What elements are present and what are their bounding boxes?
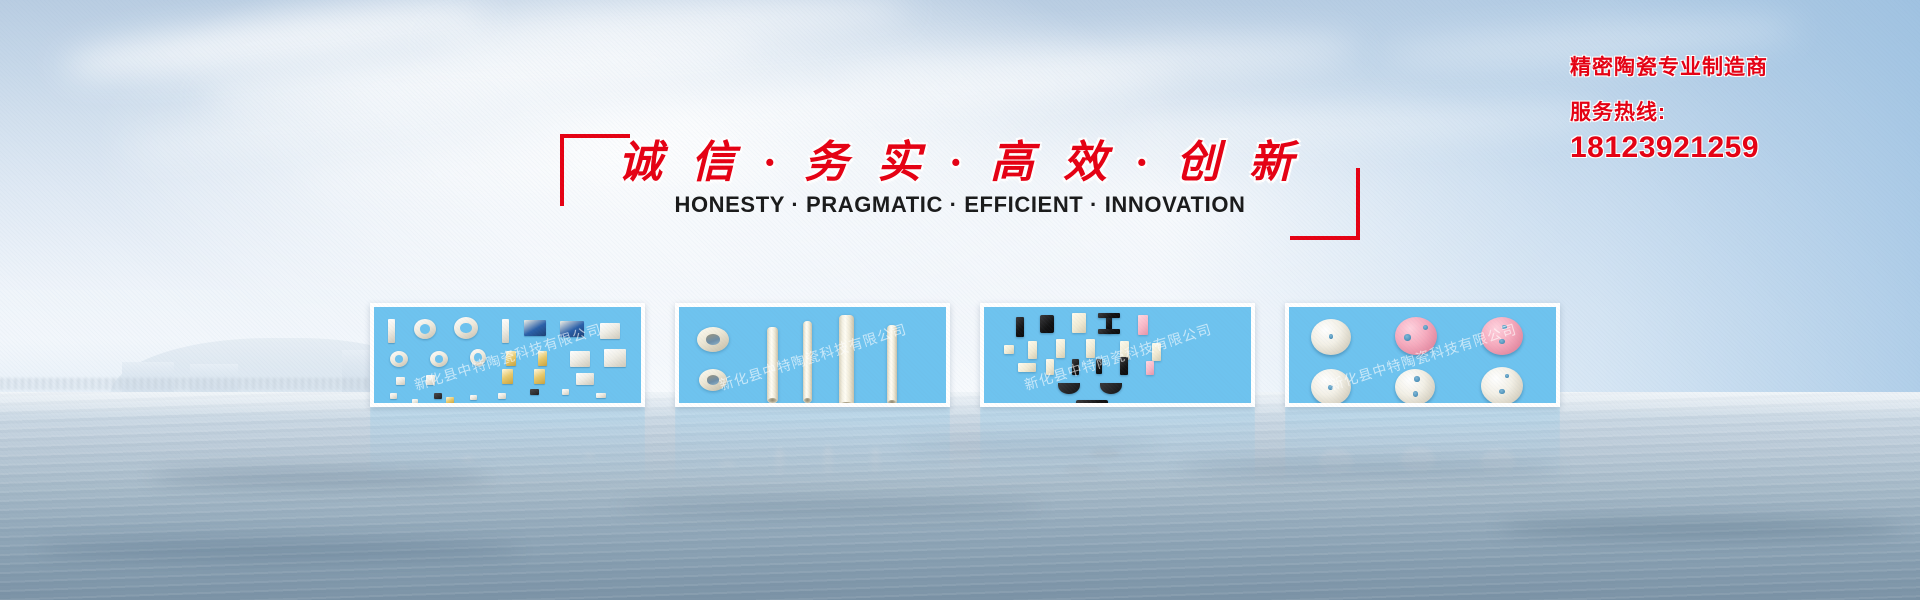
wet-smudge [40, 540, 520, 560]
ceramic-disc [1481, 317, 1523, 355]
ceramic-part [1056, 339, 1065, 358]
ceramic-part [1096, 359, 1102, 374]
ceramic-part [534, 369, 545, 384]
panel-image: 新化县中特陶瓷科技有限公司 [984, 307, 1251, 403]
ceramic-tube [803, 321, 812, 403]
panel-image: 新化县中特陶瓷科技有限公司 [374, 307, 641, 403]
ceramic-part [412, 399, 418, 403]
ceramic-part [1086, 339, 1095, 358]
ceramic-part [446, 397, 454, 403]
ceramic-part [576, 373, 594, 385]
ceramic-part [570, 351, 590, 367]
panel-watermark: 新化县中特陶瓷科技有限公司 [716, 319, 908, 395]
ceramic-part [498, 393, 506, 399]
ceramic-part [470, 349, 486, 366]
ceramic-part [1040, 315, 1054, 333]
ceramic-part [538, 351, 547, 366]
ceramic-part [430, 351, 448, 367]
wet-smudge [620, 500, 1040, 514]
ceramic-part [390, 351, 408, 367]
ceramic-disc [1311, 319, 1351, 355]
panel-ceramic-bars[interactable]: 新化县中特陶瓷科技有限公司 [980, 303, 1255, 407]
hotline-label: 服务热线: [1570, 100, 1900, 125]
panel-image: 新化县中特陶瓷科技有限公司 [1289, 307, 1556, 403]
ceramic-disc [1481, 367, 1523, 403]
ceramic-part [596, 393, 606, 398]
ceramic-tube [767, 327, 778, 403]
ceramic-part [1072, 359, 1079, 375]
ceramic-ring [697, 327, 729, 352]
ceramic-part [396, 377, 405, 385]
ceramic-part [426, 375, 435, 385]
ceramic-disc [1395, 317, 1437, 355]
ceramic-part [600, 323, 620, 339]
ceramic-part [1138, 315, 1148, 335]
panel-reflection [980, 407, 1255, 485]
ceramic-arc [1100, 383, 1122, 394]
hero-banner: 新化县中特陶瓷科技有限公司 新化县中特陶瓷科技有限公司 [0, 0, 1920, 600]
ceramic-part [1018, 363, 1036, 372]
slogan-block: 诚 信 · 务 实 · 高 效 · 创 新 HONESTY · PRAGMATI… [560, 130, 1360, 240]
panel-ceramic-tubes[interactable]: 新化县中特陶瓷科技有限公司 [675, 303, 950, 407]
ceramic-part [414, 319, 436, 339]
ceramic-part [1016, 317, 1024, 337]
ceramic-part [388, 319, 395, 343]
ceramic-arc [1058, 383, 1080, 394]
ceramic-tube [839, 315, 854, 403]
ceramic-part [1076, 400, 1108, 403]
ceramic-part [1152, 343, 1161, 361]
hotline-phone-number[interactable]: 18123921259 [1570, 131, 1900, 164]
ceramic-part [560, 321, 584, 337]
ceramic-part [1028, 341, 1037, 359]
ceramic-part [1098, 313, 1120, 318]
ceramic-part [1146, 361, 1154, 375]
ceramic-part [524, 320, 546, 336]
panel-image: 新化县中特陶瓷科技有限公司 [679, 307, 946, 403]
panel-reflection [1285, 407, 1560, 485]
ceramic-disc [1395, 369, 1435, 403]
panel-ceramic-discs[interactable]: 新化县中特陶瓷科技有限公司 [1285, 303, 1560, 407]
ceramic-part [470, 395, 477, 400]
product-panel-strip: 新化县中特陶瓷科技有限公司 新化县中特陶瓷科技有限公司 [370, 303, 1560, 407]
ceramic-part [604, 349, 626, 367]
slogan-chinese: 诚 信 · 务 实 · 高 效 · 创 新 [560, 126, 1360, 190]
ceramic-part [562, 389, 569, 395]
ceramic-part [434, 393, 442, 399]
slogan-english: HONESTY · PRAGMATIC · EFFICIENT · INNOVA… [560, 192, 1360, 218]
panel-chip-components[interactable]: 新化县中特陶瓷科技有限公司 [370, 303, 645, 407]
ceramic-part [1072, 313, 1086, 333]
panel-reflections [370, 407, 1560, 485]
ceramic-part [454, 317, 478, 339]
ceramic-part [506, 351, 516, 366]
ceramic-part [1098, 329, 1120, 334]
ceramic-part [1004, 345, 1014, 354]
ceramic-ring [699, 369, 727, 391]
ceramic-part [390, 393, 397, 399]
panel-reflection [370, 407, 645, 485]
ceramic-part [1120, 357, 1128, 375]
panel-reflection [675, 407, 950, 485]
ceramic-part [502, 369, 513, 384]
ceramic-part [1046, 359, 1054, 375]
ceramic-tube [887, 325, 897, 403]
ceramic-part [530, 389, 539, 395]
ceramic-part [502, 319, 509, 343]
contact-block: 精密陶瓷专业制造商 服务热线: 18123921259 [1570, 55, 1900, 164]
ceramic-disc [1311, 369, 1351, 403]
company-tagline: 精密陶瓷专业制造商 [1570, 55, 1900, 80]
wet-smudge [1500, 520, 1900, 538]
